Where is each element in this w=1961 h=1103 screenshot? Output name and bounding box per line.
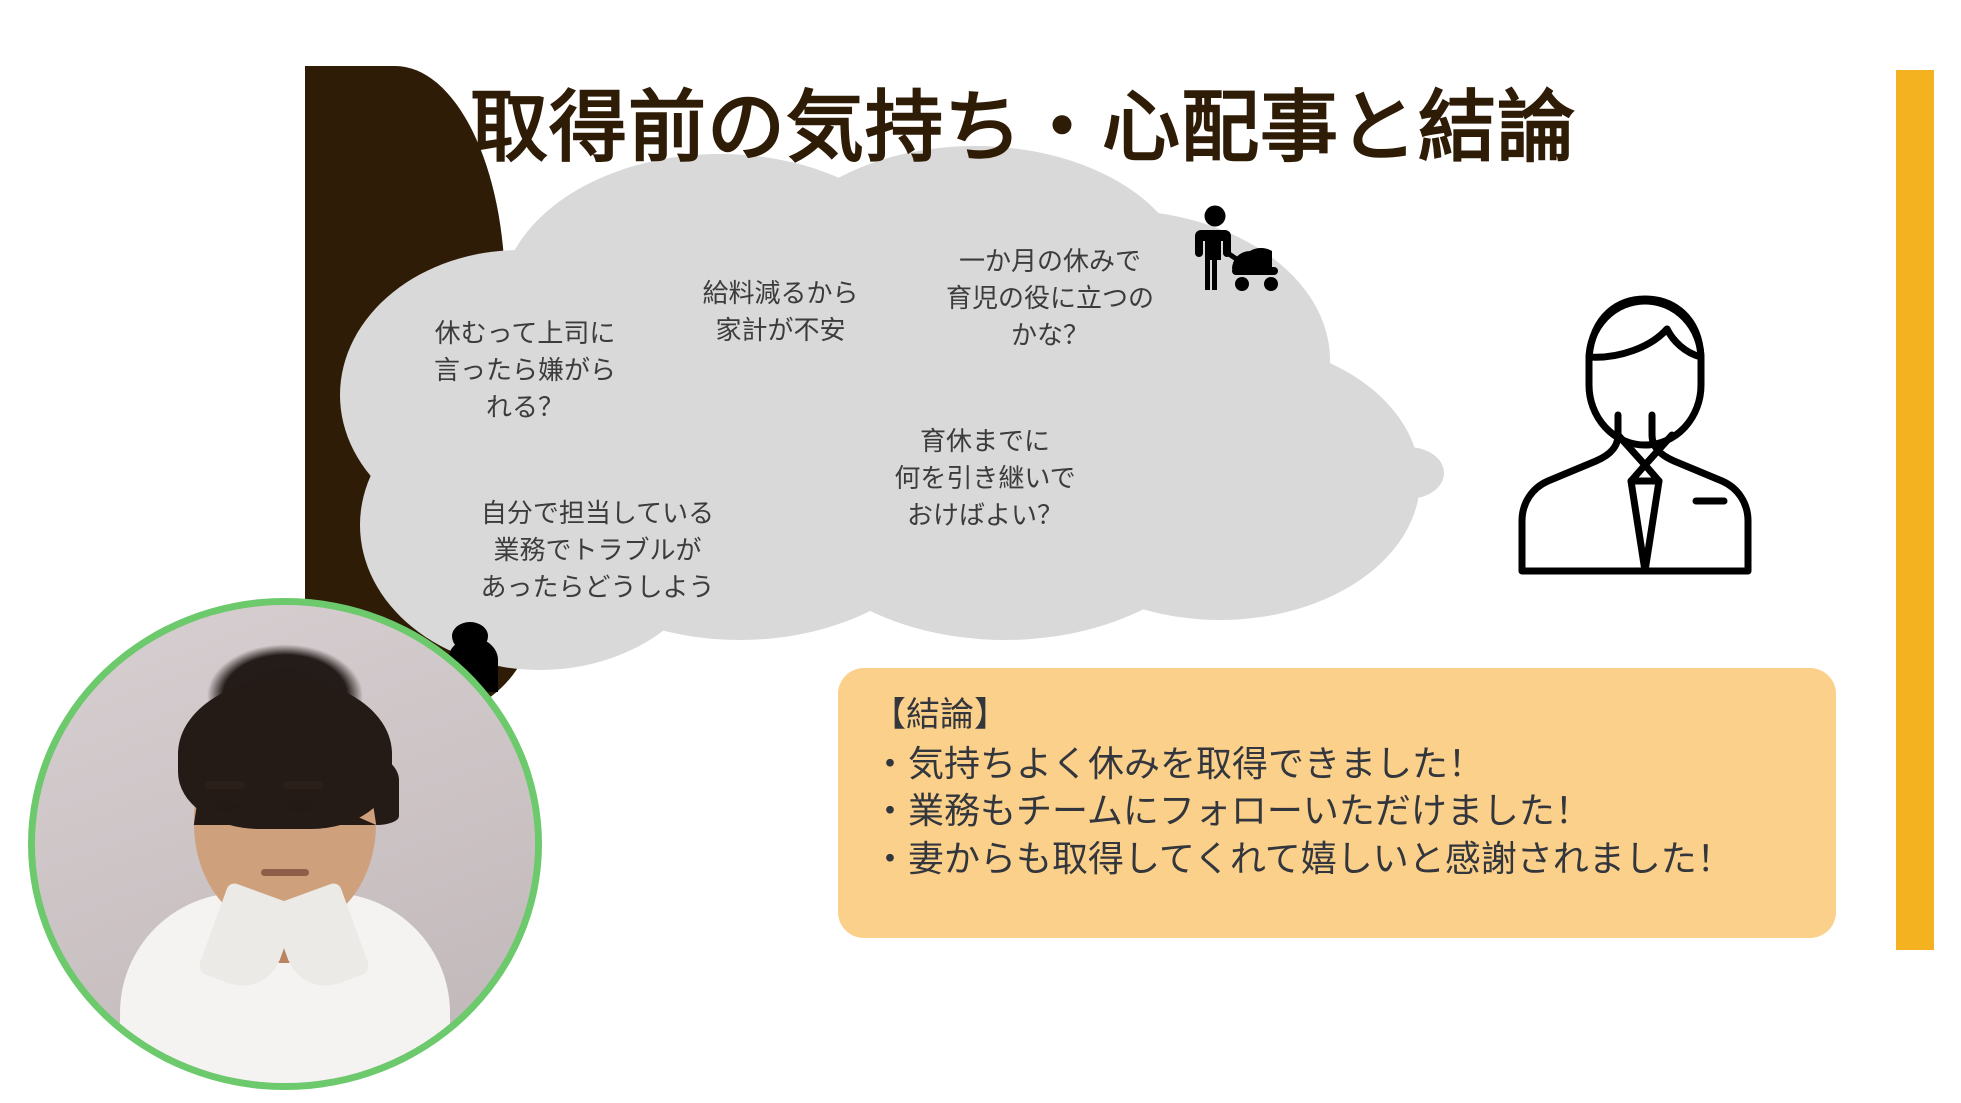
conclusion-line-1: ・気持ちよく休みを取得できました！: [872, 740, 1836, 788]
avatar-eye-right: [287, 801, 317, 812]
avatar-photo-backdrop: [35, 605, 535, 1083]
businessman-line-art-icon: [1510, 285, 1780, 580]
conclusion-line-2: ・業務もチームにフォローいただけました！: [872, 787, 1836, 835]
avatar-eye-left: [210, 801, 240, 812]
thought-puff-small: [1372, 447, 1444, 499]
conclusion-line-3: ・妻からも取得してくれて嬉しいと感謝されました！: [872, 835, 1836, 883]
conclusion-heading: 【結論】: [872, 694, 1836, 738]
avatar-eyebrow-right: [283, 781, 323, 789]
conclusion-card: 【結論】 ・気持ちよく休みを取得できました！ ・業務もチームにフォローいただけま…: [838, 668, 1836, 938]
parent-with-stroller-icon: [1192, 205, 1294, 298]
avatar-mouth: [261, 869, 309, 876]
bubble-text-boss-reaction: 休むって上司に 言ったら嫌がら れる？: [395, 315, 655, 426]
slide-canvas: 取得前の気持ち・心配事と結論 休むって上司に 言ったら嫌がら れる？ 給料減るか…: [0, 0, 1961, 1103]
avatar-eyebrow-left: [205, 781, 245, 789]
bubble-text-work-trouble: 自分で担当している 業務でトラブルが あったらどうしよう: [440, 495, 755, 606]
bubble-text-handover: 育休までに 何を引き継いで おけばよい？: [840, 423, 1130, 534]
page-title: 取得前の気持ち・心配事と結論: [470, 88, 1576, 166]
bubble-text-one-month-use: 一か月の休みで 育児の役に立つの かな？: [905, 243, 1195, 354]
thought-puff-large: [1215, 415, 1315, 487]
bubble-text-salary-worry: 給料減るから 家計が不安: [648, 275, 913, 349]
profile-photo-avatar: [28, 598, 542, 1090]
accent-bar-right: [1896, 70, 1934, 950]
